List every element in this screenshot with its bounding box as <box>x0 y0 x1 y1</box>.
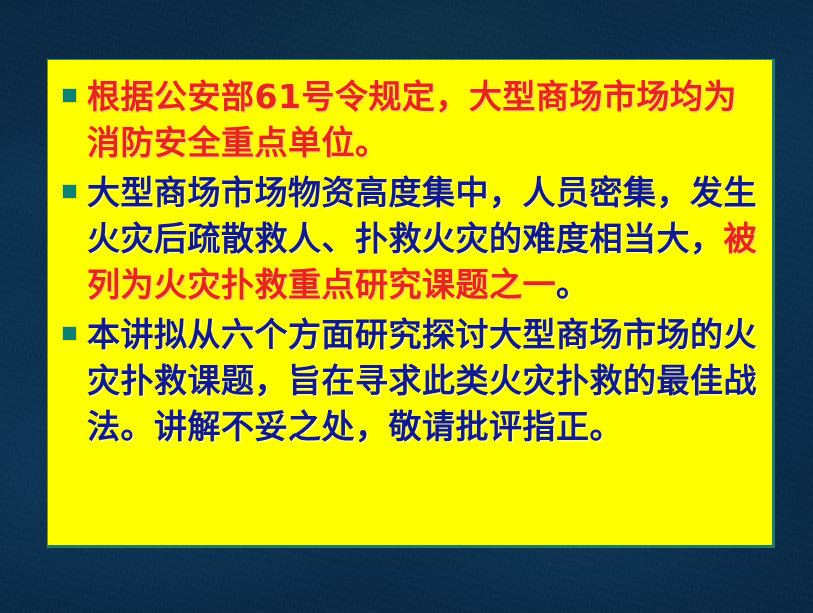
bullet-item-3: 本讲拟从六个方面研究探讨大型商场市场的火灾扑救课题，旨在寻求此类火灾扑救的最佳战… <box>58 312 764 450</box>
bullet-text-3: 本讲拟从六个方面研究探讨大型商场市场的火灾扑救课题，旨在寻求此类火灾扑救的最佳战… <box>87 312 764 450</box>
bullet-item-1: 根据公安部61号令规定，大型商场市场均为消防安全重点单位。 <box>58 74 764 166</box>
bullet-text-1: 根据公安部61号令规定，大型商场市场均为消防安全重点单位。 <box>87 74 764 166</box>
bullet-text-2: 大型商场市场物资高度集中，人员密集，发生火灾后疏散救人、扑救火灾的难度相当大，被… <box>87 170 764 308</box>
square-bullet-icon <box>63 327 76 340</box>
bullet-2-segment-3: 。 <box>556 265 590 304</box>
square-bullet-icon <box>63 185 76 198</box>
bullet-3-segment-1: 本讲拟从六个方面研究探讨大型商场市场的火灾扑救课题，旨在寻求此类火灾扑救的最佳战… <box>87 315 757 446</box>
content-panel: 根据公安部61号令规定，大型商场市场均为消防安全重点单位。 大型商场市场物资高度… <box>47 59 775 548</box>
square-bullet-icon <box>63 89 76 102</box>
bullet-1-segment-1: 根据公安部61号令规定，大型商场市场均为消防安全重点单位。 <box>87 77 737 162</box>
bullet-2-segment-1: 大型商场市场物资高度集中，人员密集，发生火灾后疏散救人、扑救火灾的难度相当大， <box>87 173 757 258</box>
slide-canvas: 根据公安部61号令规定，大型商场市场均为消防安全重点单位。 大型商场市场物资高度… <box>0 0 813 613</box>
bullet-item-2: 大型商场市场物资高度集中，人员密集，发生火灾后疏散救人、扑救火灾的难度相当大，被… <box>58 170 764 308</box>
